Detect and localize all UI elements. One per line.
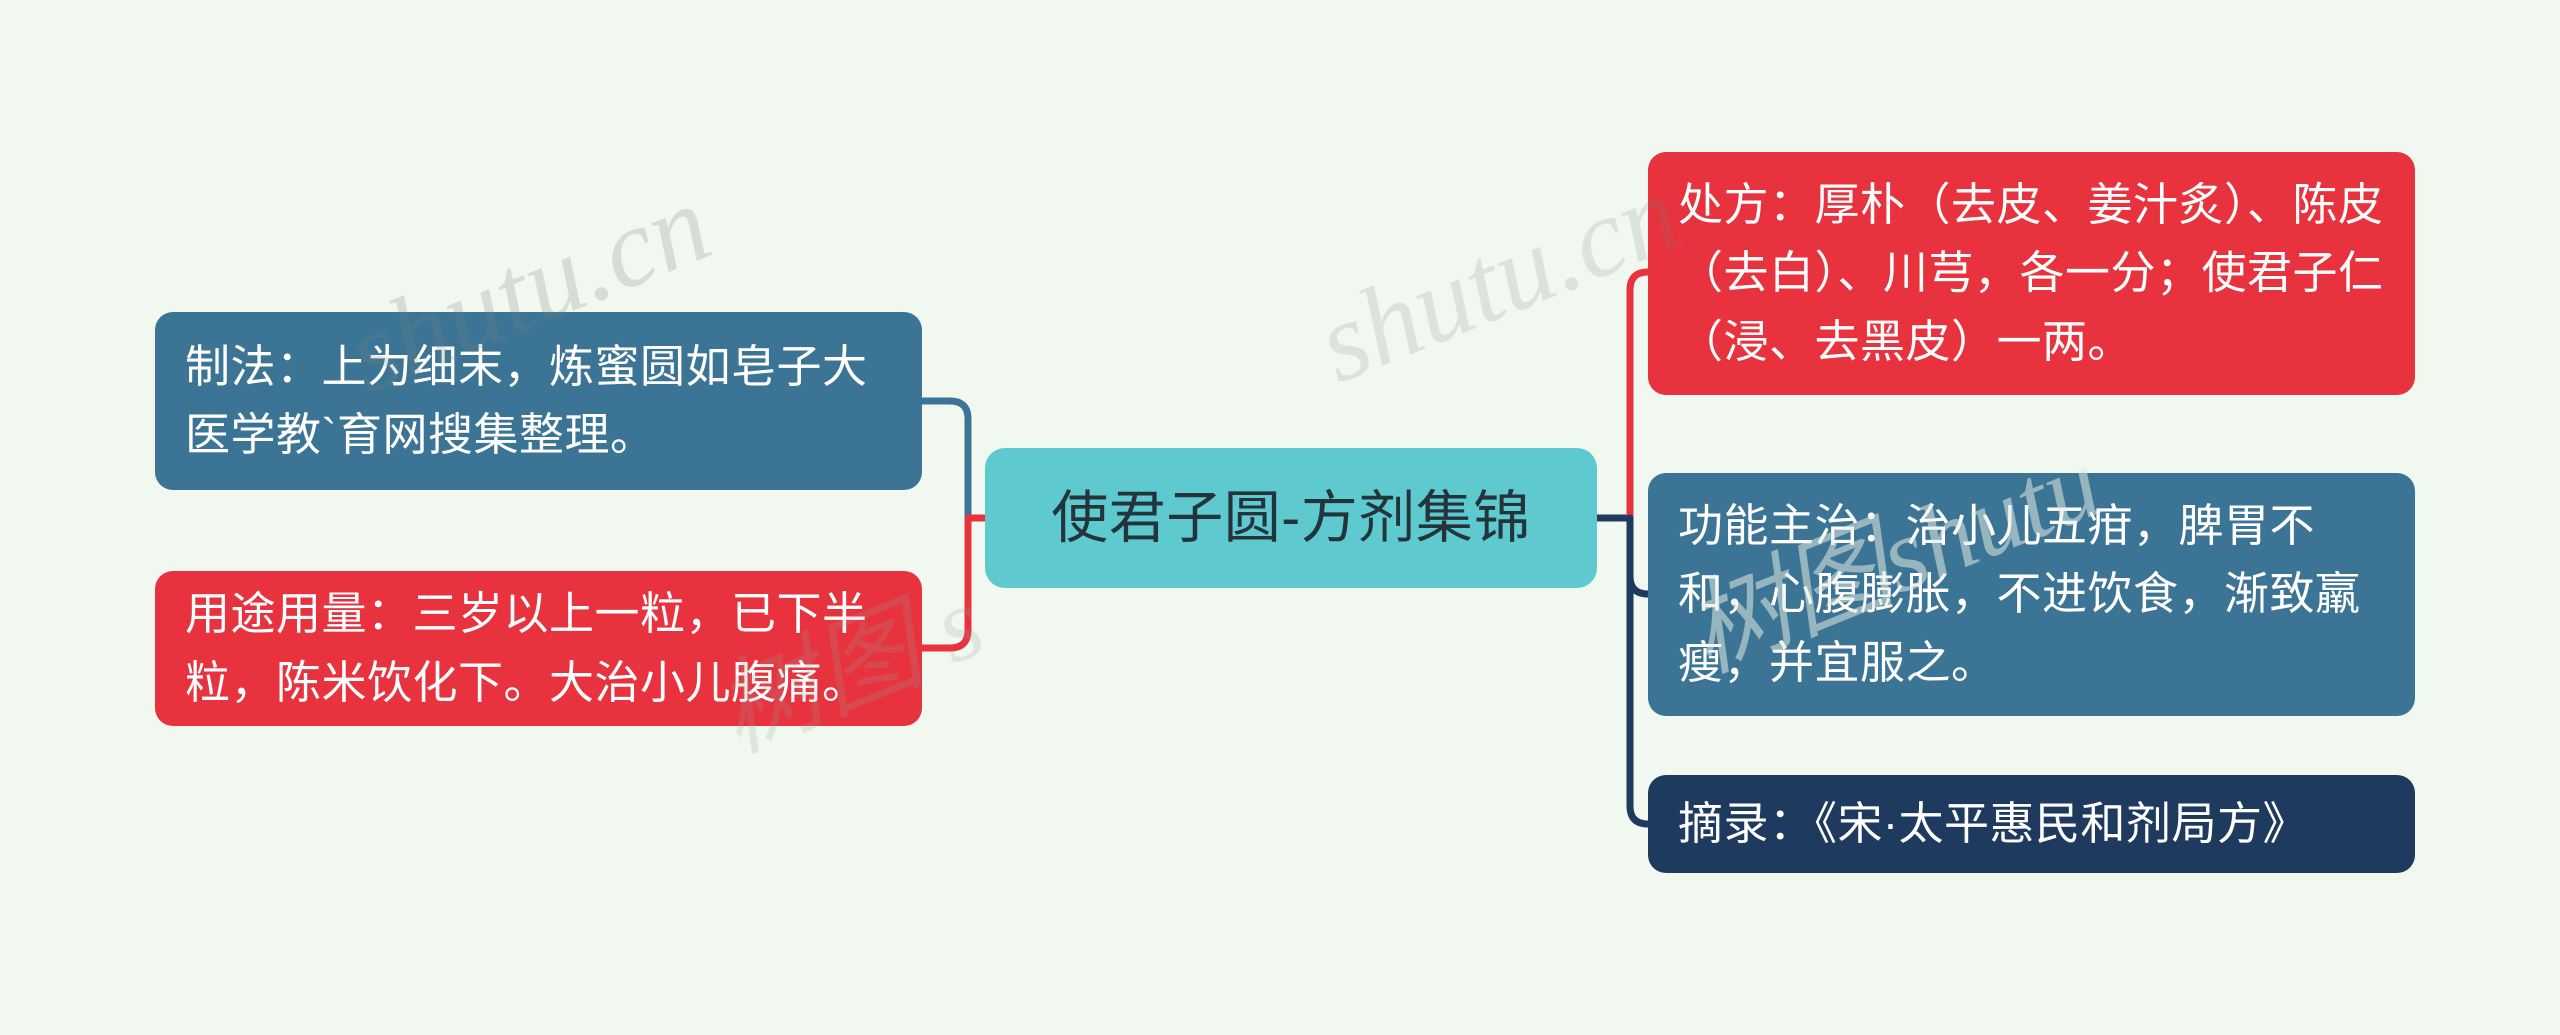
node-prescription-label: 处方：厚朴（去皮、姜汁炙）、陈皮（去白）、川芎，各一分；使君子仁（浸、去黑皮）一… [1678,171,2385,376]
node-prescription[interactable]: 处方：厚朴（去皮、姜汁炙）、陈皮（去白）、川芎，各一分；使君子仁（浸、去黑皮）一… [1648,152,2415,395]
node-indications-label: 功能主治：治小儿五疳，脾胃不和，心腹膨胀，不进饮食，渐致羸瘦，并宜服之。 [1678,492,2385,697]
node-preparation-method-label: 制法：上为细末，炼蜜圆如皂子大医学教`育网搜集整理。 [185,333,892,470]
node-usage-and-dosage[interactable]: 用途用量：三岁以上一粒，已下半粒，陈米饮化下。大治小儿腹痛。 [155,571,922,726]
node-preparation-method[interactable]: 制法：上为细末，炼蜜圆如皂子大医学教`育网搜集整理。 [155,312,922,490]
connector-chufang [1630,272,1648,518]
node-usage-and-dosage-label: 用途用量：三岁以上一粒，已下半粒，陈米饮化下。大治小儿腹痛。 [185,580,892,717]
connector-yongtu [922,518,968,648]
node-source-excerpt[interactable]: 摘录：《宋·太平惠民和剂局方》 [1648,775,2415,873]
connector-zhailu [1630,518,1648,824]
mindmap-canvas: shutu.cn shutu.cn 树图shutu 树图 s 制法：上为细末，炼… [0,0,2560,1035]
watermark-shutu-right: shutu.cn [1300,149,1697,410]
connector-gongneng [1630,518,1648,594]
node-center-title[interactable]: 使君子圆-方剂集锦 [985,448,1597,588]
node-indications[interactable]: 功能主治：治小儿五疳，脾胃不和，心腹膨胀，不进饮食，渐致羸瘦，并宜服之。 [1648,473,2415,716]
node-source-excerpt-label: 摘录：《宋·太平惠民和剂局方》 [1678,790,2385,858]
connector-zhifa [922,401,968,518]
center-title-label: 使君子圆-方剂集锦 [1007,475,1575,562]
